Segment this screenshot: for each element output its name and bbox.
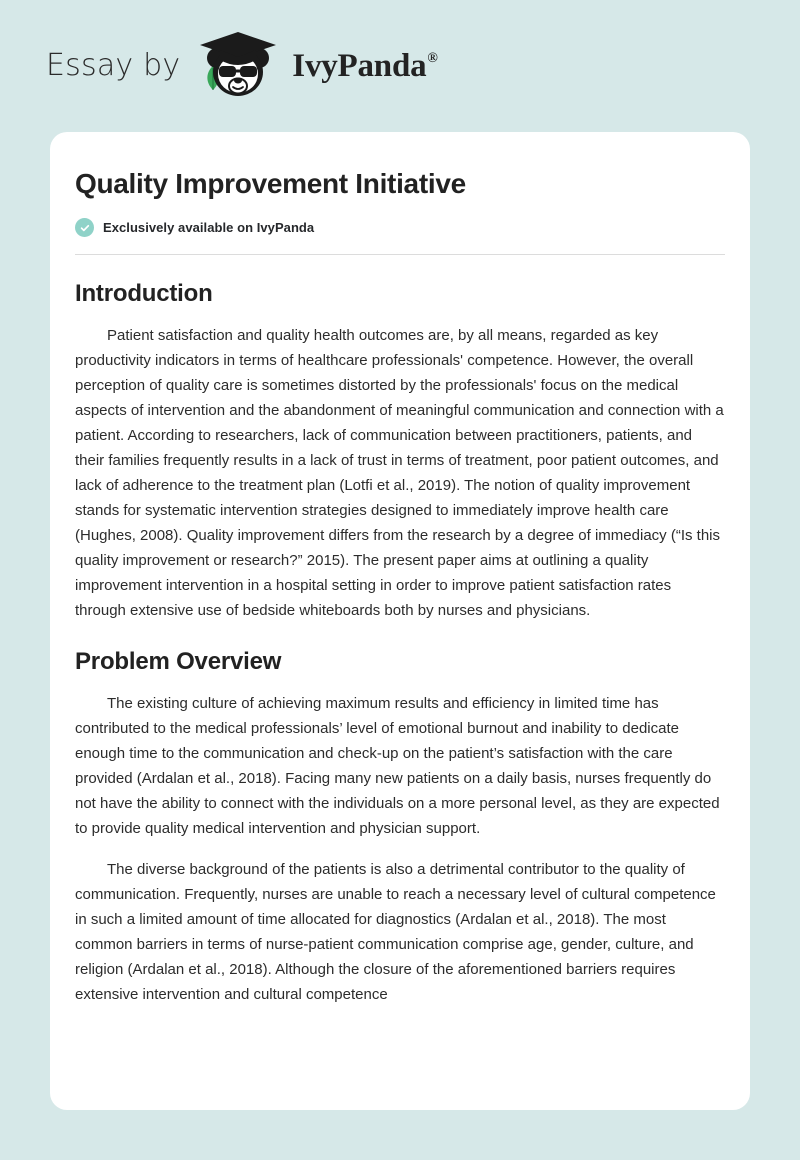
check-circle-icon bbox=[75, 218, 94, 237]
essay-by-label: Essay by bbox=[46, 51, 180, 81]
document-card: Quality Improvement Initiative Exclusive… bbox=[50, 132, 750, 1110]
registered-trademark-symbol: ® bbox=[427, 51, 437, 66]
brand-header: Essay by bbox=[0, 0, 800, 132]
ivypanda-wordmark: IvyPanda® bbox=[292, 50, 436, 83]
section-heading-problem-overview: Problem Overview bbox=[75, 648, 725, 677]
exclusive-availability-badge: Exclusively available on IvyPanda bbox=[75, 218, 725, 237]
status-badge-label: Exclusively available on IvyPanda bbox=[103, 220, 314, 235]
section-heading-introduction: Introduction bbox=[75, 280, 725, 309]
paragraph-introduction-1: Patient satisfaction and quality health … bbox=[75, 323, 725, 623]
page-title: Quality Improvement Initiative bbox=[75, 166, 725, 201]
paragraph-problem-overview-1: The existing culture of achieving maximu… bbox=[75, 691, 725, 841]
header-divider bbox=[75, 254, 725, 255]
brand-logo-group[interactable]: Essay by bbox=[46, 30, 437, 102]
paragraph-problem-overview-2: The diverse background of the patients i… bbox=[75, 857, 725, 1007]
brand-name-text: IvyPanda bbox=[292, 48, 426, 84]
ivypanda-panda-graduate-logo-icon bbox=[196, 30, 280, 102]
